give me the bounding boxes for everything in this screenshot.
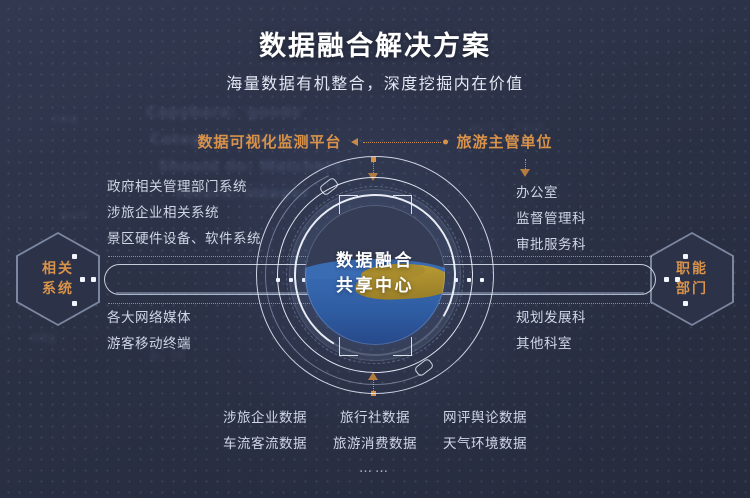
hexagon-label-line2: 系统 xyxy=(42,279,74,299)
right-departments-bottom-list: 规划发展科 其他科室 xyxy=(516,305,586,357)
list-item: 景区硬件设备、软件系统 xyxy=(107,226,261,252)
marker-arrow-down-right xyxy=(519,159,531,177)
list-item: 游客移动终端 xyxy=(107,331,191,357)
list-item: 监督管理科 xyxy=(516,206,586,232)
connector-node xyxy=(72,301,77,306)
left-sources-bottom-list: 各大网络媒体 游客移动终端 xyxy=(107,305,191,357)
right-departments-top-list: 办公室 监督管理科 审批服务科 xyxy=(516,180,586,258)
hexagon-label-line1: 职能 xyxy=(676,259,708,279)
label-tourism-authority: 旅游主管单位 xyxy=(457,131,553,152)
list-item: 其他科室 xyxy=(516,331,572,357)
core-ring-system: 数据融合 共享中心 xyxy=(253,153,497,397)
grid-cell: 天气环境数据 xyxy=(430,431,540,457)
list-item: 办公室 xyxy=(516,180,558,206)
left-sources-top-list: 政府相关管理部门系统 涉旅企业相关系统 景区硬件设备、软件系统 xyxy=(107,174,261,252)
page-title: 数据融合解决方案 xyxy=(0,24,750,63)
connector-node xyxy=(683,301,688,306)
hexagon-label-line2: 部门 xyxy=(676,279,708,299)
hexagon-label: 职能 部门 xyxy=(676,259,708,299)
label-data-visualization-platform: 数据可视化监测平台 xyxy=(197,131,341,152)
list-item: 政府相关管理部门系统 xyxy=(107,174,247,200)
grid-ellipsis: …… xyxy=(359,461,391,476)
core-label: 数据融合 共享中心 xyxy=(253,249,497,299)
grid-cell: 旅行社数据 xyxy=(320,405,430,431)
arrow-left-dotted-icon xyxy=(351,137,448,147)
grid-cell: 车流客流数据 xyxy=(210,431,320,457)
page-subtitle: 海量数据有机整合，深度挖掘内在价值 xyxy=(0,70,750,94)
grid-cell: 网评舆论数据 xyxy=(430,405,540,431)
top-label-row: 数据可视化监测平台 旅游主管单位 xyxy=(0,131,750,152)
bottom-grid-row: 车流客流数据 旅游消费数据 天气环境数据 xyxy=(210,431,540,457)
infographic-canvas: Capybara: 'goods' Category: delete cl Sh… xyxy=(0,0,750,498)
grid-cell: 旅游消费数据 xyxy=(320,431,430,457)
bottom-grid-row: 涉旅企业数据 旅行社数据 网评舆论数据 xyxy=(210,405,540,431)
connector-node xyxy=(91,277,96,282)
core-label-line1: 数据融合 xyxy=(253,249,497,274)
hexagon-label: 相关 系统 xyxy=(42,259,74,299)
grid-cell: 涉旅企业数据 xyxy=(210,405,320,431)
connector-node xyxy=(664,277,669,282)
hexagon-label-line1: 相关 xyxy=(42,259,74,279)
list-item: 涉旅企业相关系统 xyxy=(107,200,219,226)
bottom-data-grid: 涉旅企业数据 旅行社数据 网评舆论数据 车流客流数据 旅游消费数据 天气环境数据… xyxy=(0,405,750,476)
core-label-line2: 共享中心 xyxy=(253,274,497,299)
hexagon-related-systems: 相关 系统 xyxy=(16,232,100,326)
connector-node xyxy=(80,277,85,282)
